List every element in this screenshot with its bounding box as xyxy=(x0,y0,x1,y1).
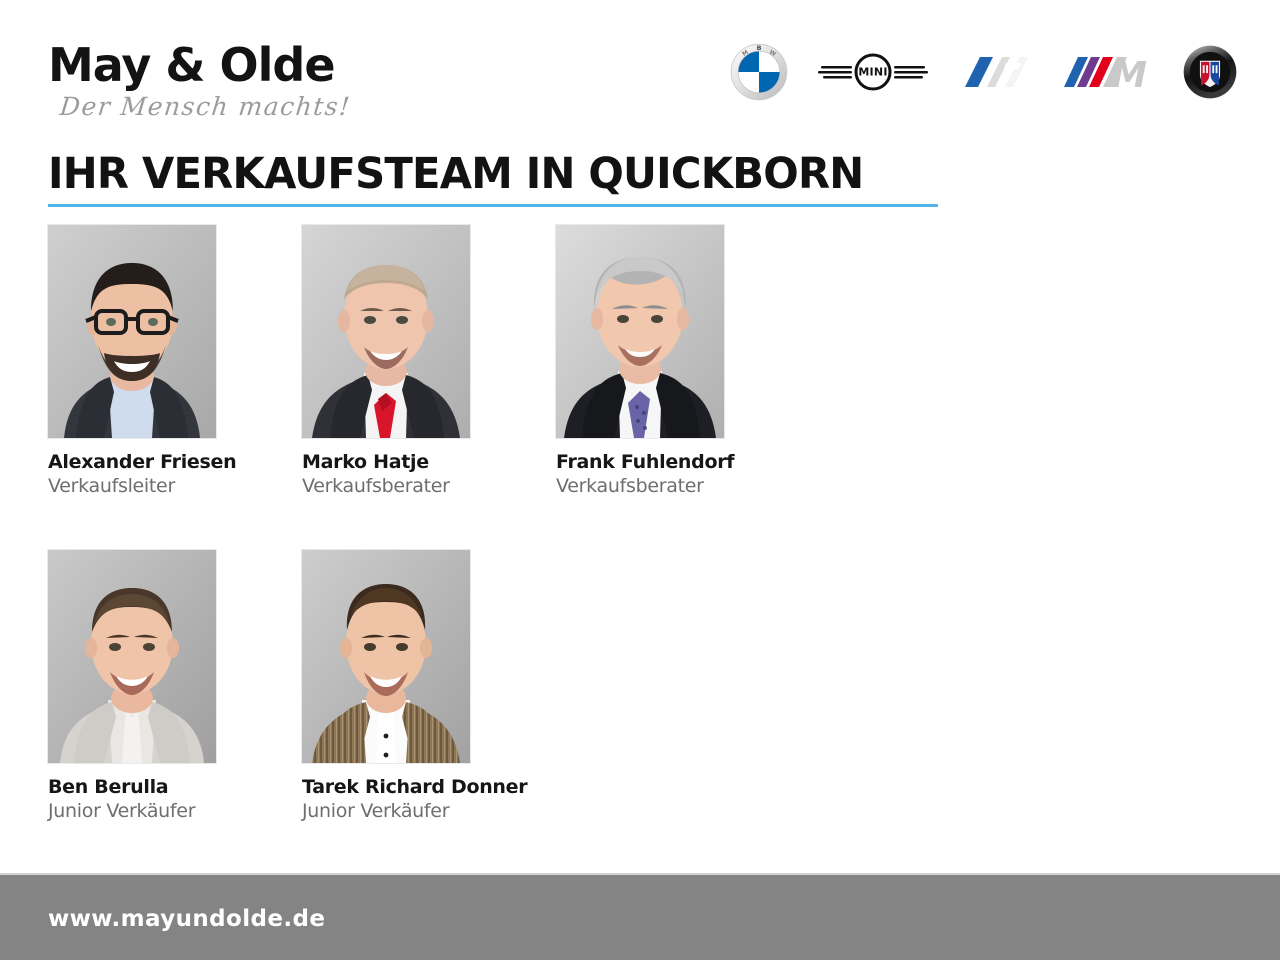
team-member-role: Verkaufsleiter xyxy=(48,474,216,498)
mini-logo: MINI xyxy=(818,49,928,95)
team-member-card[interactable]: Alexander Friesen Verkaufsleiter xyxy=(48,225,216,498)
team-page: May & Olde Der Mensch machts! xyxy=(0,0,1280,960)
page-title: IHR VERKAUFSTEAM IN QUICKBORN xyxy=(48,150,921,198)
page-title-block: IHR VERKAUFSTEAM IN QUICKBORN xyxy=(48,150,948,207)
svg-text:M: M xyxy=(1111,55,1147,92)
team-member-role: Verkaufsberater xyxy=(302,474,470,498)
brand-logo-strip: B M W MINI xyxy=(730,36,1238,108)
bmw-i-logo xyxy=(958,52,1030,92)
svg-text:B: B xyxy=(757,44,762,52)
team-member-name: Alexander Friesen xyxy=(48,450,216,474)
team-member-photo xyxy=(48,550,216,763)
bmw-logo: B M W xyxy=(730,43,788,101)
page-footer: www.mayundolde.de xyxy=(0,873,1280,960)
company-logo: May & Olde Der Mensch machts! xyxy=(48,40,378,130)
team-member-card[interactable]: Frank Fuhlendorf Verkaufsberater xyxy=(556,225,724,498)
team-member-name: Marko Hatje xyxy=(302,450,470,474)
alpina-logo xyxy=(1182,44,1238,100)
team-member-photo xyxy=(302,225,470,438)
team-member-photo xyxy=(48,225,216,438)
team-member-name: Tarek Richard Donner xyxy=(302,775,470,799)
page-header: May & Olde Der Mensch machts! xyxy=(0,0,1280,140)
team-member-card[interactable]: Tarek Richard Donner Junior Verkäufer xyxy=(302,550,470,823)
team-row: Ben Berulla Junior Verkäufer xyxy=(48,550,1228,823)
team-member-role: Verkaufsberater xyxy=(556,474,724,498)
title-underline xyxy=(48,204,938,207)
company-tagline: Der Mensch machts! xyxy=(58,92,379,122)
team-member-photo xyxy=(302,550,470,763)
team-member-role: Junior Verkäufer xyxy=(302,799,470,823)
bmw-m-logo: M xyxy=(1060,52,1152,92)
team-row: Alexander Friesen Verkaufsleiter xyxy=(48,225,1228,498)
website-url[interactable]: www.mayundolde.de xyxy=(48,906,325,932)
team-member-name: Ben Berulla xyxy=(48,775,216,799)
team-member-name: Frank Fuhlendorf xyxy=(556,450,724,474)
team-member-card[interactable]: Marko Hatje Verkaufsberater xyxy=(302,225,470,498)
svg-text:MINI: MINI xyxy=(858,66,887,79)
team-member-card[interactable]: Ben Berulla Junior Verkäufer xyxy=(48,550,216,823)
company-name: May & Olde xyxy=(48,40,378,90)
team-member-photo xyxy=(556,225,724,438)
team-grid: Alexander Friesen Verkaufsleiter xyxy=(48,225,1228,875)
team-member-role: Junior Verkäufer xyxy=(48,799,216,823)
